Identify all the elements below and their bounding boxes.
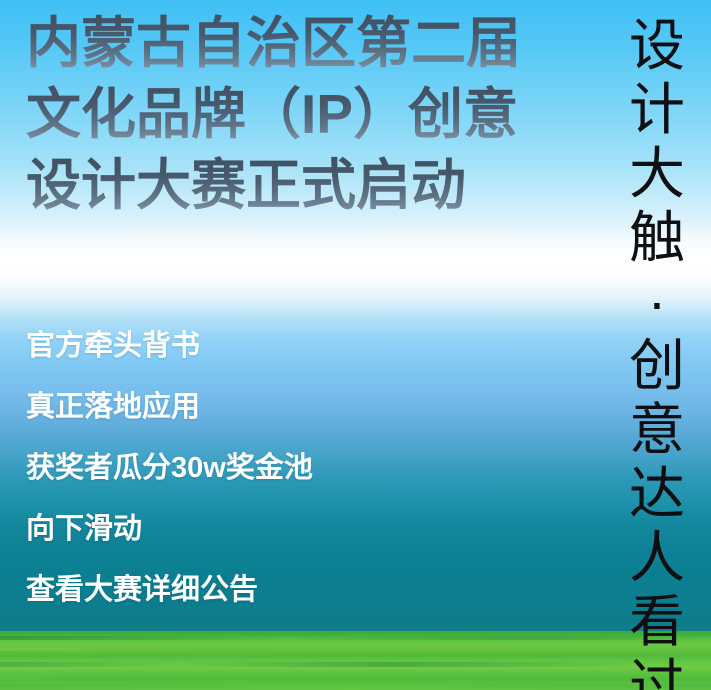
vertical-tagline: 设 计 大 触 · 创 意 达 人 看 过 来 (619, 14, 695, 690)
vertical-char: 看 (619, 590, 695, 654)
bullet-list: 官方牵头背书 真正落地应用 获奖者瓜分30w奖金池 向下滑动 查看大赛详细公告 (26, 316, 446, 621)
bullet-item-real-application: 真正落地应用 (26, 377, 446, 438)
headline-line-3: 设计大赛正式启动 (26, 150, 586, 221)
grassland-band (0, 631, 711, 690)
bullet-item-official-endorsement: 官方牵头背书 (26, 316, 446, 377)
bullet-item-view-announcement[interactable]: 查看大赛详细公告 (26, 560, 446, 621)
vertical-char: 触 (619, 206, 695, 270)
vertical-char: 人 (619, 526, 695, 590)
vertical-char: 设 (619, 14, 695, 78)
vertical-char: 大 (619, 142, 695, 206)
headline-line-2: 文化品牌（IP）创意 (26, 79, 586, 150)
headline-line-1: 内蒙古自治区第二届 (26, 8, 586, 79)
headline-block: 内蒙古自治区第二届 文化品牌（IP）创意 设计大赛正式启动 (26, 8, 586, 221)
bullet-item-scroll-down[interactable]: 向下滑动 (26, 499, 446, 560)
poster-canvas: 内蒙古自治区第二届 文化品牌（IP）创意 设计大赛正式启动 官方牵头背书 真正落… (0, 0, 711, 690)
vertical-char: 创 (619, 334, 695, 398)
vertical-separator-dot: · (619, 270, 695, 334)
vertical-char: 达 (619, 462, 695, 526)
vertical-char: 过 (619, 654, 695, 690)
vertical-char: 计 (619, 78, 695, 142)
vertical-char: 意 (619, 398, 695, 462)
bullet-item-prize-pool: 获奖者瓜分30w奖金池 (26, 438, 446, 499)
